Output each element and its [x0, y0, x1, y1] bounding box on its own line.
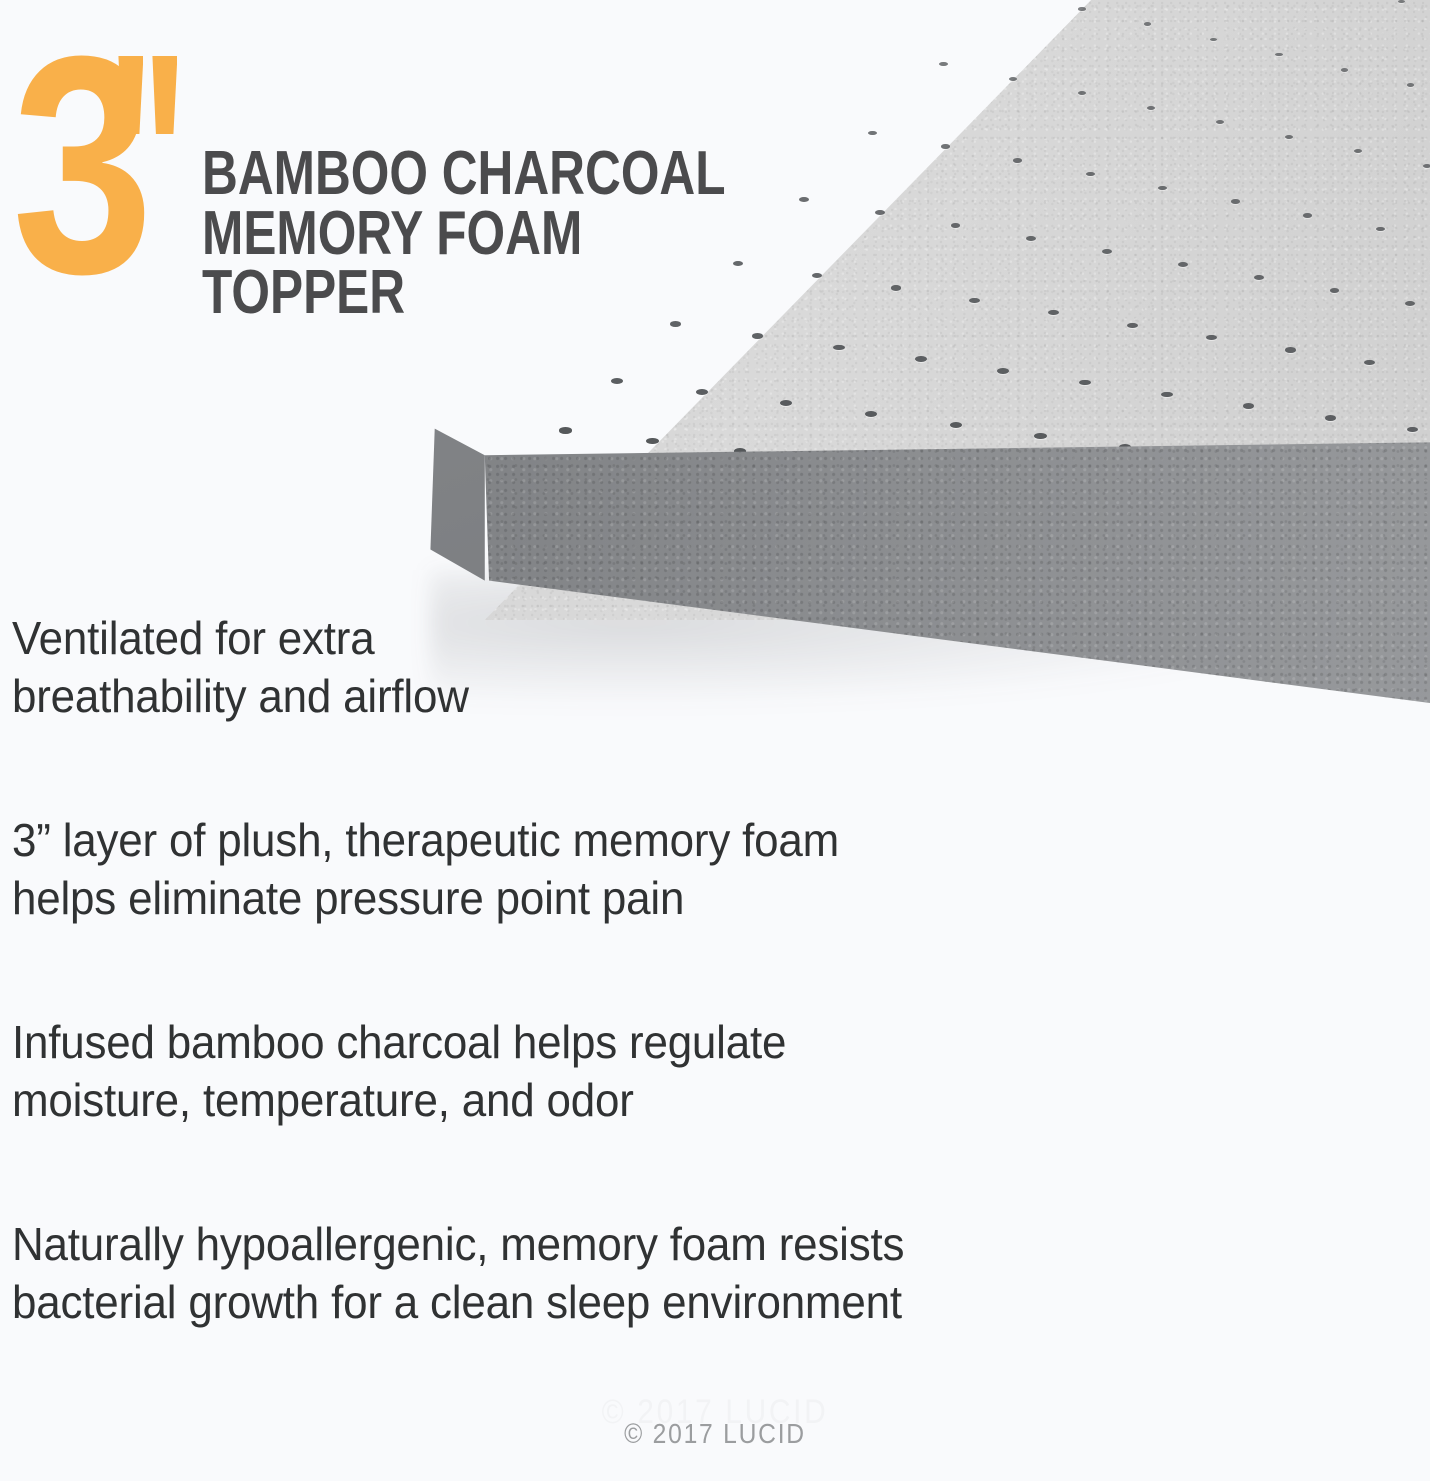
ventilation-hole: [1285, 347, 1296, 352]
ventilation-hole: [1330, 288, 1340, 293]
ventilation-hole: [1407, 427, 1418, 433]
ventilation-hole: [865, 411, 877, 417]
ventilation-hole: [939, 62, 947, 66]
ventilation-hole: [1231, 199, 1240, 203]
page-title: 3 BAMBOO CHARCOAL MEMORY FOAM TOPPER: [12, 46, 857, 323]
ventilation-hole: [950, 422, 962, 428]
ventilation-hole: [1127, 323, 1138, 328]
headline-line-3: TOPPER: [202, 263, 726, 323]
ventilation-hole: [696, 389, 708, 395]
ventilation-hole: [1405, 301, 1415, 306]
ventilation-hole: [1206, 335, 1217, 340]
ventilation-hole: [951, 223, 961, 228]
ventilation-hole: [1423, 164, 1430, 168]
ventilation-hole: [969, 298, 980, 303]
ventilation-hole: [1026, 236, 1036, 241]
ventilation-hole: [941, 144, 950, 148]
ventilation-hole: [646, 438, 659, 444]
ventilation-hole: [1210, 38, 1217, 42]
ventilation-hole: [1254, 275, 1264, 280]
ventilation-hole: [1364, 360, 1375, 365]
feature-item-ventilation: Ventilated for extra breathability and a…: [12, 610, 1225, 726]
ventilation-hole: [559, 427, 572, 433]
feature-list: Ventilated for extra breathability and a…: [12, 610, 1282, 1332]
ventilation-hole: [1341, 68, 1348, 72]
ventilation-hole: [1285, 135, 1293, 139]
ventilation-hole: [915, 356, 926, 362]
ventilation-hole: [752, 333, 763, 339]
ventilation-hole: [1354, 149, 1362, 153]
ventilation-hole: [1147, 106, 1155, 110]
copyright-notice: © 2017 LUCID: [86, 1418, 1344, 1450]
ventilation-hole: [1376, 227, 1385, 231]
ventilation-hole: [1303, 213, 1312, 217]
headline-lines: BAMBOO CHARCOAL MEMORY FOAM TOPPER: [202, 144, 856, 323]
headline-line-2: MEMORY FOAM: [202, 204, 726, 264]
ventilation-hole: [997, 368, 1008, 374]
ventilation-hole: [780, 400, 792, 406]
ventilation-hole: [875, 210, 885, 215]
ventilation-hole: [1216, 120, 1224, 124]
feature-item-thickness: 3” layer of plush, therapeutic memory fo…: [12, 812, 1225, 928]
ventilation-hole: [1144, 22, 1151, 26]
feature-item-bamboo-charcoal: Infused bamboo charcoal helps regulate m…: [12, 1014, 1225, 1130]
ventilation-hole: [1325, 415, 1336, 421]
ventilation-hole: [891, 285, 902, 290]
inch-mark-icon: [118, 56, 192, 136]
ventilation-hole: [1243, 403, 1254, 409]
ventilation-hole: [1048, 310, 1059, 315]
ventilation-hole: [868, 131, 877, 135]
ventilation-hole: [1078, 91, 1086, 95]
ventilation-hole: [1158, 186, 1167, 190]
ventilation-hole: [1161, 392, 1172, 398]
ventilation-hole: [1102, 249, 1112, 254]
product-feature-graphic: 3 BAMBOO CHARCOAL MEMORY FOAM TOPPER Ven…: [0, 0, 1430, 1481]
headline-line-1: BAMBOO CHARCOAL: [202, 144, 726, 204]
ventilation-hole: [1013, 158, 1022, 162]
ventilation-hole: [1079, 380, 1090, 386]
ventilation-hole: [1086, 172, 1095, 176]
ventilation-hole: [833, 345, 844, 351]
ventilation-hole: [611, 378, 623, 384]
ventilation-hole: [1178, 262, 1188, 267]
feature-item-hypoallergenic: Naturally hypoallergenic, memory foam re…: [12, 1216, 1225, 1332]
ventilation-hole: [1009, 77, 1017, 81]
ventilation-hole: [1407, 83, 1414, 87]
ventilation-hole: [1398, 0, 1404, 3]
ventilation-hole: [1275, 53, 1282, 57]
ventilation-hole: [1078, 7, 1085, 11]
ventilation-hole: [1034, 433, 1046, 439]
